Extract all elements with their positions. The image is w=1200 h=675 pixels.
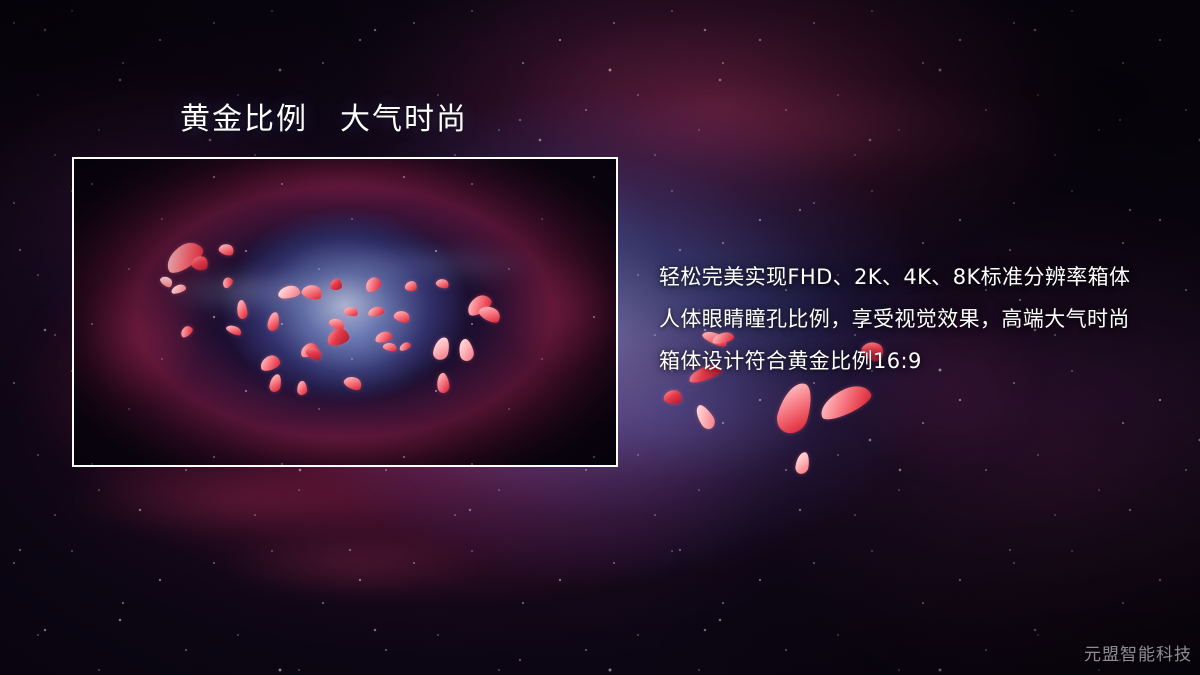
media-vignette [74,159,616,465]
body-line-3: 箱体设计符合黄金比例16:9 [659,340,1159,382]
body-line-2: 人体眼睛瞳孔比例，享受视觉效果，高端大气时尚 [659,298,1159,340]
body-copy: 轻松完美实现FHD、2K、4K、8K标准分辨率箱体 人体眼睛瞳孔比例，享受视觉效… [659,256,1159,382]
page-title: 黄金比例 大气时尚 [180,102,468,138]
body-line-1: 轻松完美实现FHD、2K、4K、8K标准分辨率箱体 [659,256,1159,298]
media-frame[interactable] [72,157,618,467]
watermark: 元盟智能科技 [1084,640,1192,665]
presentation-slide: 黄金比例 大气时尚 轻松完美实现FHD、2K、4K、8K标准分辨率箱体 人体眼睛… [0,0,1200,675]
